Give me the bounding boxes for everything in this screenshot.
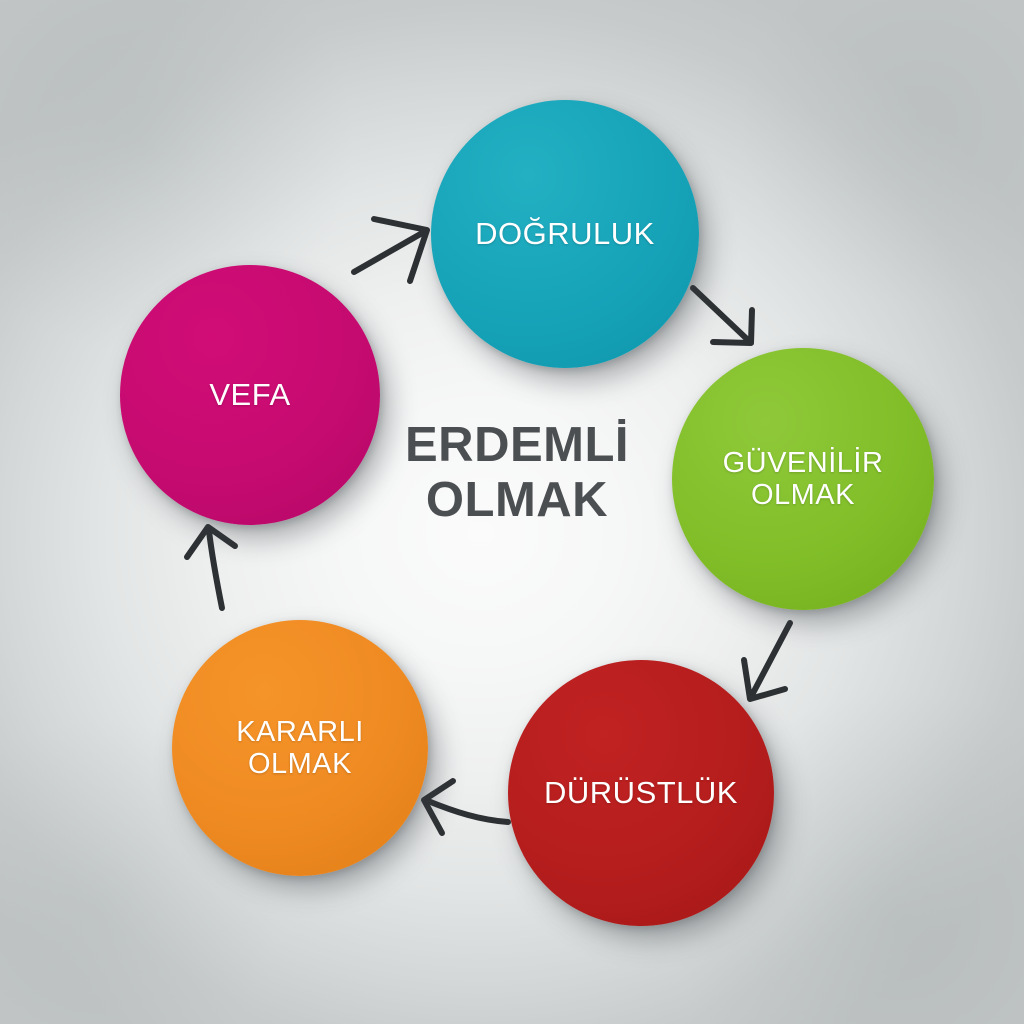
- arrow-durustluk-to-kararli: [424, 781, 508, 833]
- node-dogruluk-label: DOĞRULUK: [467, 217, 663, 252]
- arrow-dogruluk-to-guvenilir: [693, 288, 752, 343]
- node-durustluk[interactable]: DÜRÜSTLÜK: [508, 660, 774, 926]
- arrow-vefa-to-dogruluk: [354, 219, 427, 281]
- node-vefa-label: VEFA: [201, 378, 298, 413]
- node-guvenilir-label: GÜVENİLİR OLMAK: [715, 447, 892, 512]
- node-dogruluk[interactable]: DOĞRULUK: [431, 100, 699, 368]
- arrow-guvenilir-to-durustluk: [744, 623, 790, 699]
- page-title-line-2: OLMAK: [372, 473, 662, 528]
- diagram-canvas: DOĞRULUK GÜVENİLİR OLMAK DÜRÜSTLÜK KARAR…: [0, 0, 1024, 1024]
- node-durustluk-label: DÜRÜSTLÜK: [536, 776, 746, 811]
- node-kararli-label: KARARLI OLMAK: [228, 716, 372, 781]
- page-title-line-1: ERDEMLİ: [372, 418, 662, 473]
- page-title: ERDEMLİ OLMAK: [372, 418, 662, 528]
- node-guvenilir[interactable]: GÜVENİLİR OLMAK: [672, 348, 934, 610]
- node-vefa[interactable]: VEFA: [120, 265, 380, 525]
- arrow-kararli-to-vefa: [187, 527, 235, 608]
- node-kararli[interactable]: KARARLI OLMAK: [172, 620, 428, 876]
